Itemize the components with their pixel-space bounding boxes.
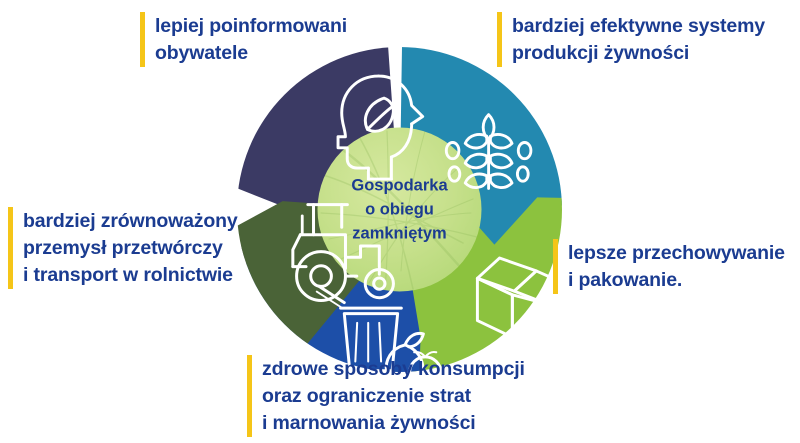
accent-bar-citizens [140, 12, 145, 67]
label-industry-text: bardziej zrównoważony przemysł przetwórc… [23, 207, 238, 289]
label-consumption-text: zdrowe sposoby konsumpcji oraz ogranicze… [262, 355, 525, 437]
label-consumption[interactable]: zdrowe sposoby konsumpcji oraz ogranicze… [247, 355, 525, 437]
label-packaging-text: lepsze przechowywanie i pakowanie. [568, 239, 785, 294]
label-industry[interactable]: bardziej zrównoważony przemysł przetwórc… [8, 207, 238, 289]
accent-bar-production [497, 12, 502, 67]
label-citizens[interactable]: lepiej poinformowani obywatele [140, 12, 347, 67]
circular-economy-wheel: Gospodarka o obiegu zamkniętym [237, 47, 562, 372]
label-packaging[interactable]: lepsze przechowywanie i pakowanie. [553, 239, 785, 294]
label-production[interactable]: bardziej efektywne systemy produkcji żyw… [497, 12, 765, 67]
accent-bar-consumption [247, 355, 252, 437]
accent-bar-packaging [553, 239, 558, 294]
infographic-stage: Gospodarka o obiegu zamkniętym lepiej po… [0, 0, 800, 443]
accent-bar-industry [8, 207, 13, 289]
label-production-text: bardziej efektywne systemy produkcji żyw… [512, 12, 765, 67]
label-citizens-text: lepiej poinformowani obywatele [155, 12, 347, 67]
